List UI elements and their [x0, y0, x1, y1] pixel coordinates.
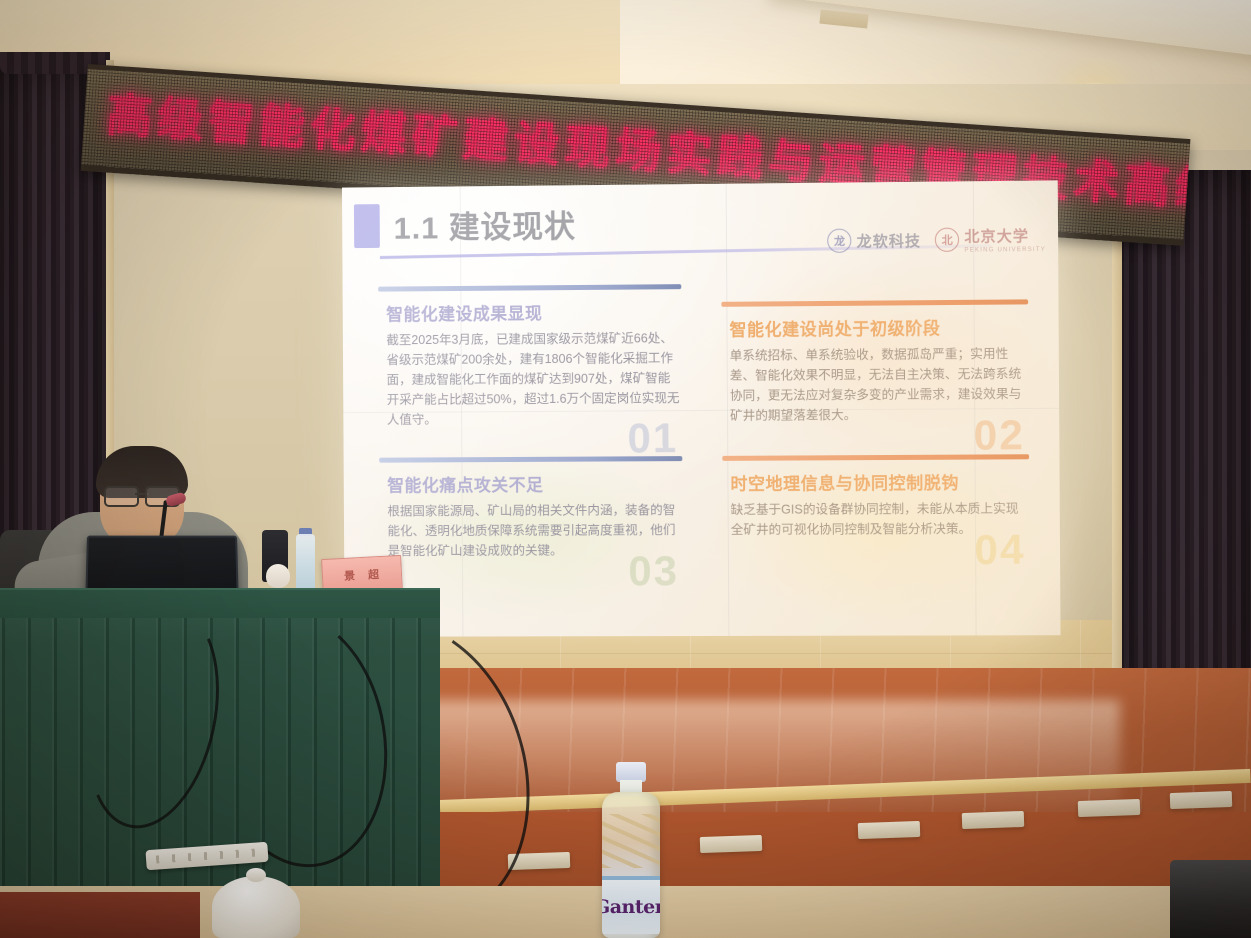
- projection-screen: 1.1 建设现状 龙 龙软科技 北 北京大学 PEKING UNIVERSITY…: [342, 180, 1061, 636]
- title-accent-block: [354, 204, 380, 248]
- quadrant-heading: 智能化建设尚处于初级阶段: [729, 313, 1028, 340]
- quadrant-number: 03: [628, 547, 679, 595]
- quadrant-bar: [721, 299, 1028, 306]
- foreground-cup-lid-knob: [246, 868, 266, 882]
- quadrant-bar: [379, 456, 682, 463]
- slide-title: 1.1 建设现状: [393, 201, 576, 248]
- name-card-char-left: 景: [344, 567, 357, 584]
- quadrant-number: 02: [974, 411, 1026, 460]
- logo-pku-label: 北京大学: [964, 225, 1046, 247]
- quadrant-number: 04: [974, 525, 1026, 573]
- quadrant-bar: [722, 454, 1029, 461]
- bottle-body: Ganten: [602, 792, 660, 938]
- quadrant-04: 时空地理信息与协同控制脱钩 缺乏基于GIS的设备群协同控制，未能从本质上实现全矿…: [722, 454, 1029, 540]
- name-card-char-right: 超: [368, 566, 381, 583]
- tea-cup: [266, 564, 290, 588]
- pku-seal-icon: 北: [935, 228, 959, 252]
- quadrant-heading: 智能化建设成果显现: [386, 298, 681, 325]
- bottle-cap: [616, 762, 646, 782]
- quadrant-02: 智能化建设尚处于初级阶段 单系统招标、单系统验收，数据孤岛严重；实用性差、智能化…: [721, 299, 1029, 426]
- bottle-label: Ganten: [602, 880, 660, 934]
- quadrant-bar: [378, 284, 681, 291]
- foreground-cup-lid: [212, 876, 300, 938]
- bottle-brand-text: Ganten: [602, 896, 660, 918]
- stage-floor-light: [962, 811, 1025, 829]
- longruan-mark-icon: 龙: [827, 229, 851, 253]
- logo-longruan: 龙 龙软科技: [827, 228, 921, 253]
- quadrant-01: 智能化建设成果显现 截至2025年3月底，已建成国家级示范煤矿近66处、省级示范…: [378, 284, 682, 430]
- stage-floor-light: [700, 835, 763, 853]
- foreground-laptop: [1170, 860, 1251, 938]
- logo-pku-english: PEKING UNIVERSITY: [964, 247, 1046, 254]
- quadrant-heading: 时空地理信息与协同控制脱钩: [730, 468, 1029, 495]
- slide-logos: 龙 龙软科技 北 北京大学 PEKING UNIVERSITY: [827, 225, 1046, 255]
- foreground-table-dark-edge: [0, 892, 200, 938]
- lecture-hall-photo: 高级智能化煤矿建设现场实践与运营管理技术高级研修班 智能化矿山建设技术交流 1.…: [0, 0, 1251, 938]
- slide-title-row: 1.1 建设现状: [354, 201, 576, 248]
- slide-quadrant-grid: 智能化建设成果显现 截至2025年3月底，已建成国家级示范煤矿近66处、省级示范…: [378, 281, 1030, 615]
- wall-trim: [1112, 168, 1122, 728]
- logo-longruan-label: 龙软科技: [857, 229, 922, 251]
- stage-curtain-right: [1120, 170, 1251, 730]
- quadrant-03: 智能化痛点攻关不足 根据国家能源局、矿山局的相关文件内涵，装备的智能化、透明化地…: [379, 456, 683, 562]
- quadrant-heading: 智能化痛点攻关不足: [387, 470, 682, 496]
- stage-floor-light: [1078, 799, 1141, 817]
- stage-floor-light: [1170, 791, 1233, 809]
- glasses-lens-left: [104, 486, 139, 507]
- foreground-water-bottle: Ganten: [600, 762, 662, 938]
- desk-water-bottle: [296, 534, 315, 592]
- stage-floor-light: [858, 821, 921, 839]
- bottle-wrapper-texture: [602, 814, 660, 868]
- logo-peking-university: 北 北京大学 PEKING UNIVERSITY: [935, 225, 1046, 254]
